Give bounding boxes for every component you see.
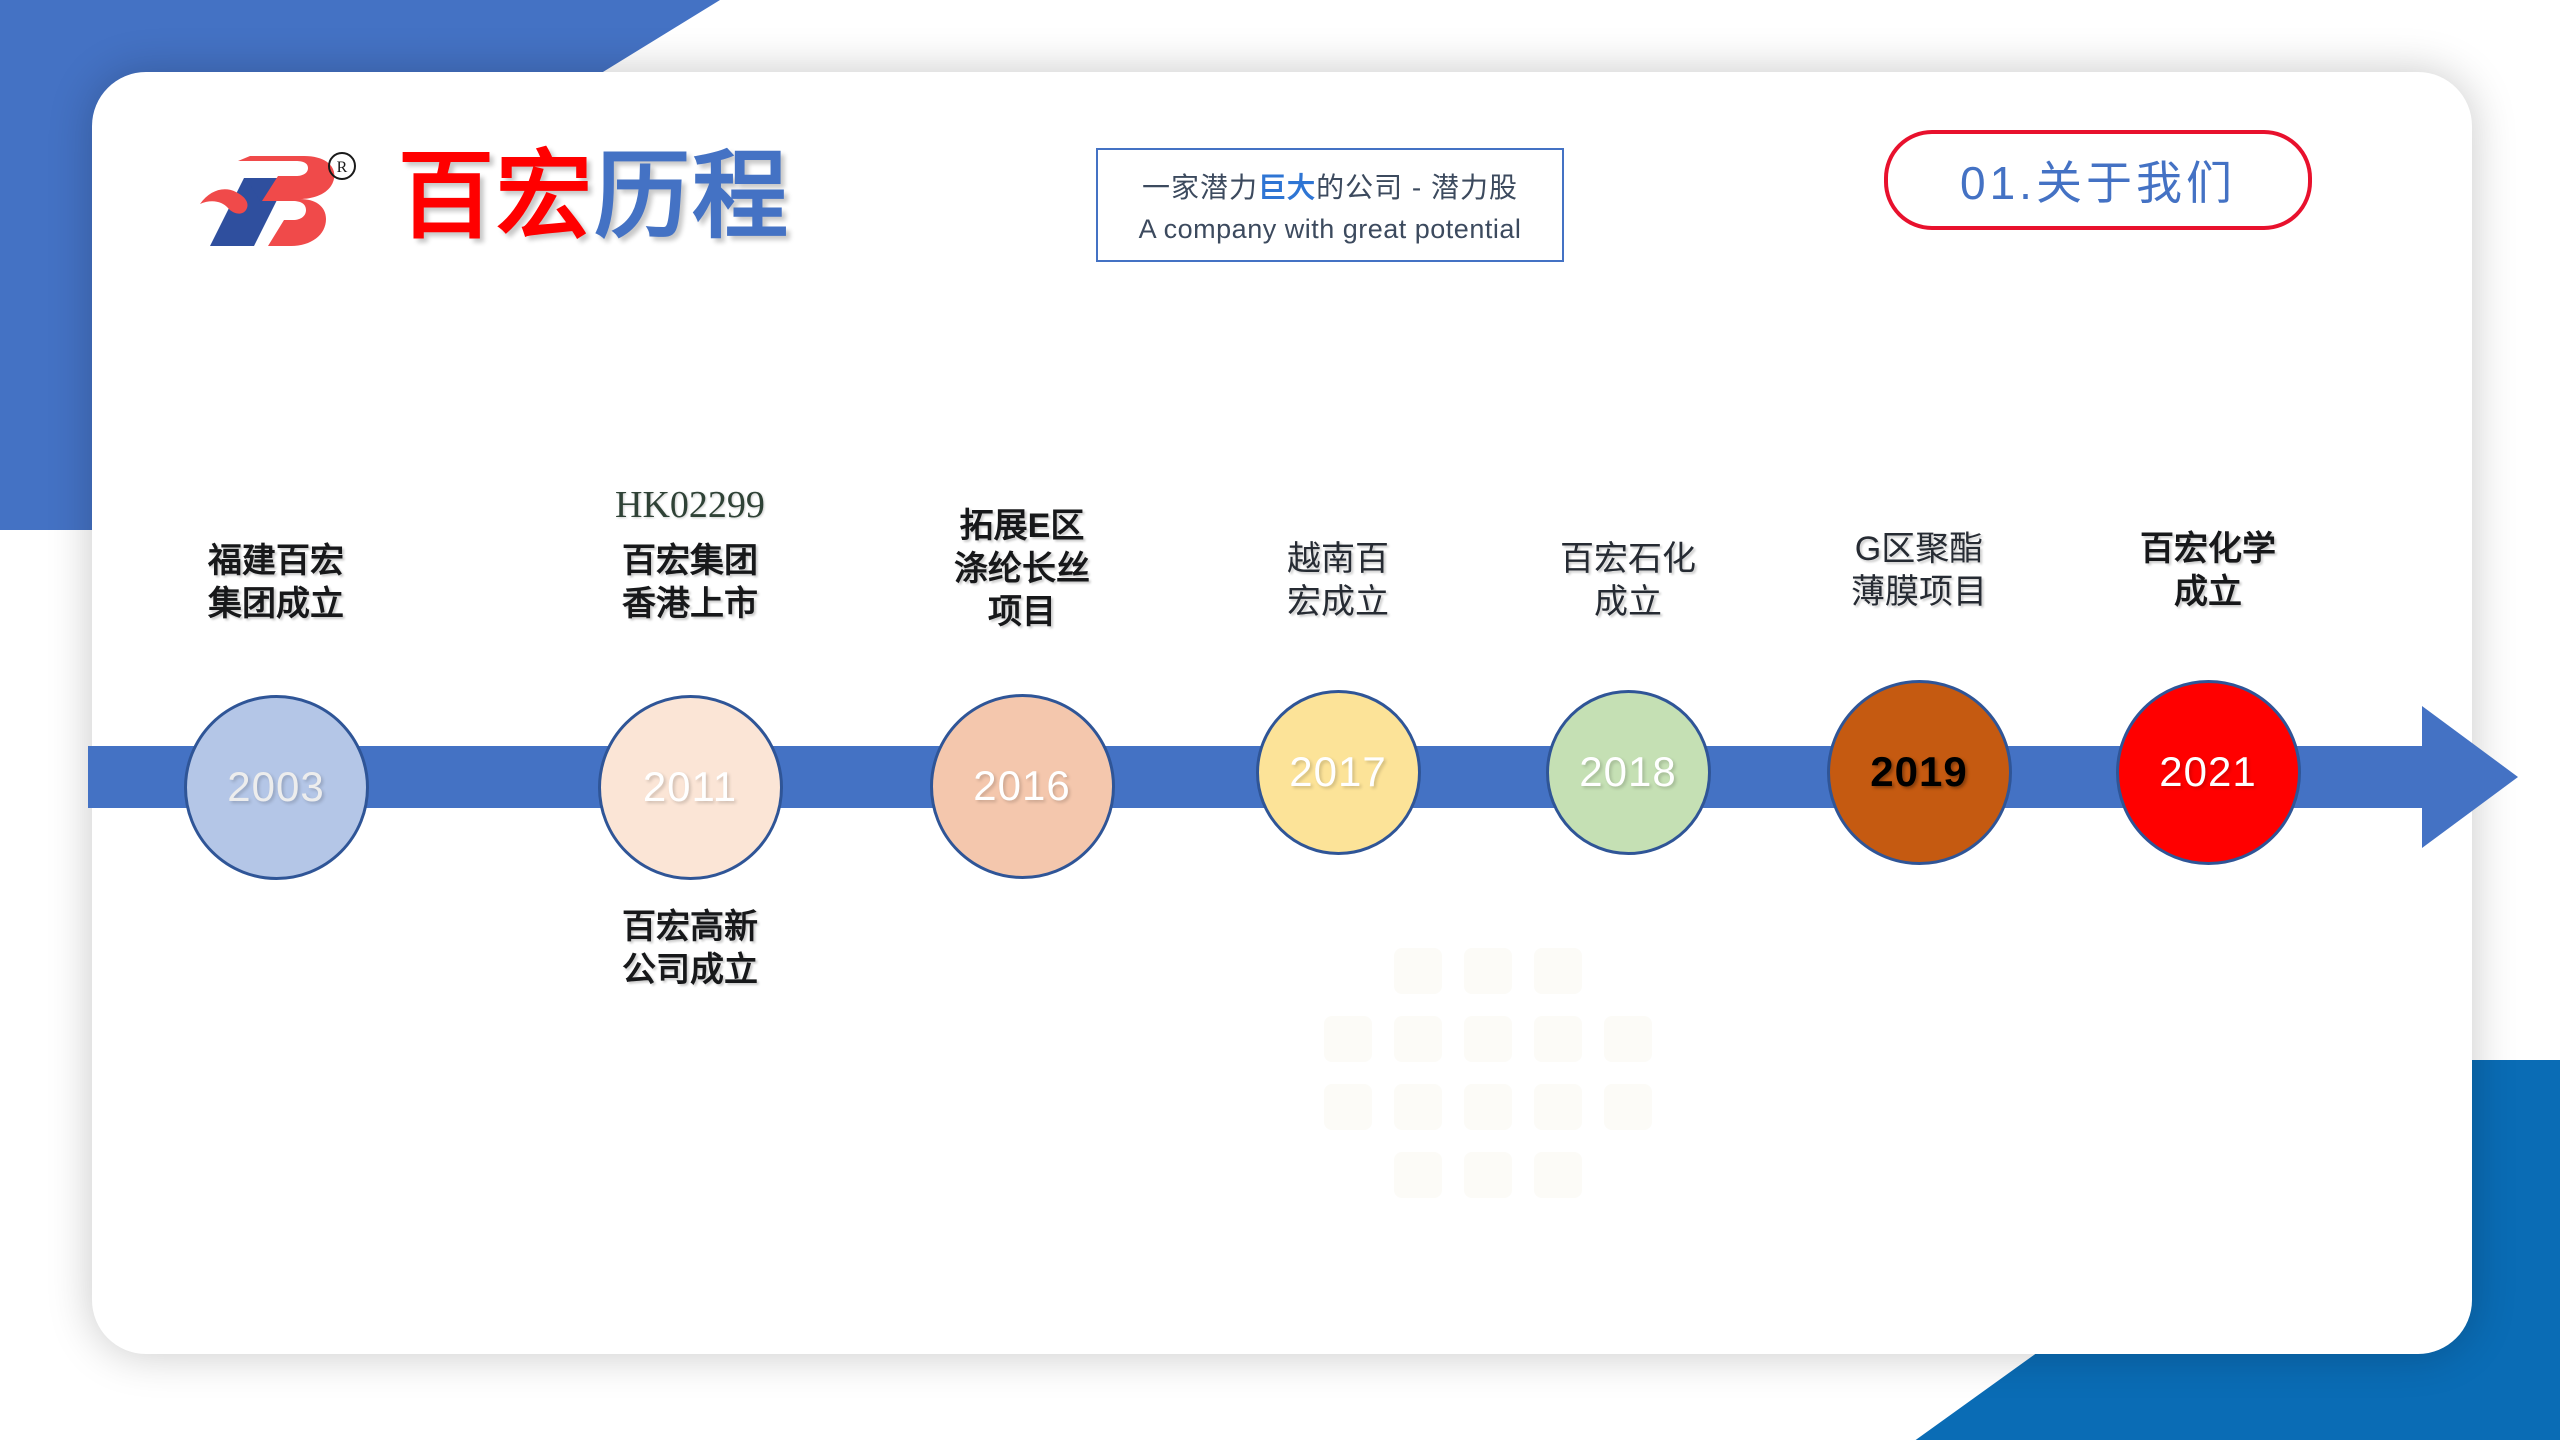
tagline-cn-suffix: 的公司 - 潜力股 bbox=[1316, 172, 1518, 203]
page-title-blue: 历程 bbox=[594, 143, 790, 250]
timeline-node-year: 2021 bbox=[2159, 748, 2256, 796]
timeline-node-year: 2018 bbox=[1579, 748, 1676, 796]
tagline-cn-bold: 巨大 bbox=[1258, 172, 1316, 203]
timeline-node-2003[interactable]: 2003 bbox=[184, 695, 369, 880]
page-title-red: 百宏 bbox=[398, 143, 594, 250]
timeline-node-2019[interactable]: 2019 bbox=[1827, 680, 2012, 865]
timeline-node-2018[interactable]: 2018 bbox=[1546, 690, 1711, 855]
tagline-chinese: 一家潜力巨大的公司 - 潜力股 bbox=[1142, 166, 1518, 206]
page-title: 百宏历程 bbox=[398, 142, 790, 252]
section-badge-label: 01.关于我们 bbox=[1960, 147, 2236, 213]
svg-text:R: R bbox=[337, 159, 348, 176]
timeline-node-year: 2017 bbox=[1289, 748, 1386, 796]
timeline-node-2016[interactable]: 2016 bbox=[930, 694, 1115, 879]
tagline-english: A company with great potential bbox=[1139, 214, 1522, 245]
timeline-node-year: 2011 bbox=[643, 763, 737, 811]
tagline-box: 一家潜力巨大的公司 - 潜力股 A company with great pot… bbox=[1096, 148, 1564, 262]
section-badge[interactable]: 01.关于我们 bbox=[1884, 130, 2312, 230]
timeline-node-year: 2003 bbox=[227, 763, 324, 811]
timeline-node-year: 2019 bbox=[1870, 748, 1967, 796]
baihong-logo-icon: R bbox=[192, 142, 360, 254]
tagline-cn-prefix: 一家潜力 bbox=[1142, 172, 1258, 203]
timeline-node-2017[interactable]: 2017 bbox=[1256, 690, 1421, 855]
timeline-node-year: 2016 bbox=[973, 762, 1070, 810]
timeline-node-2021[interactable]: 2021 bbox=[2116, 680, 2301, 865]
timeline-node-2011[interactable]: 2011 bbox=[598, 695, 783, 880]
